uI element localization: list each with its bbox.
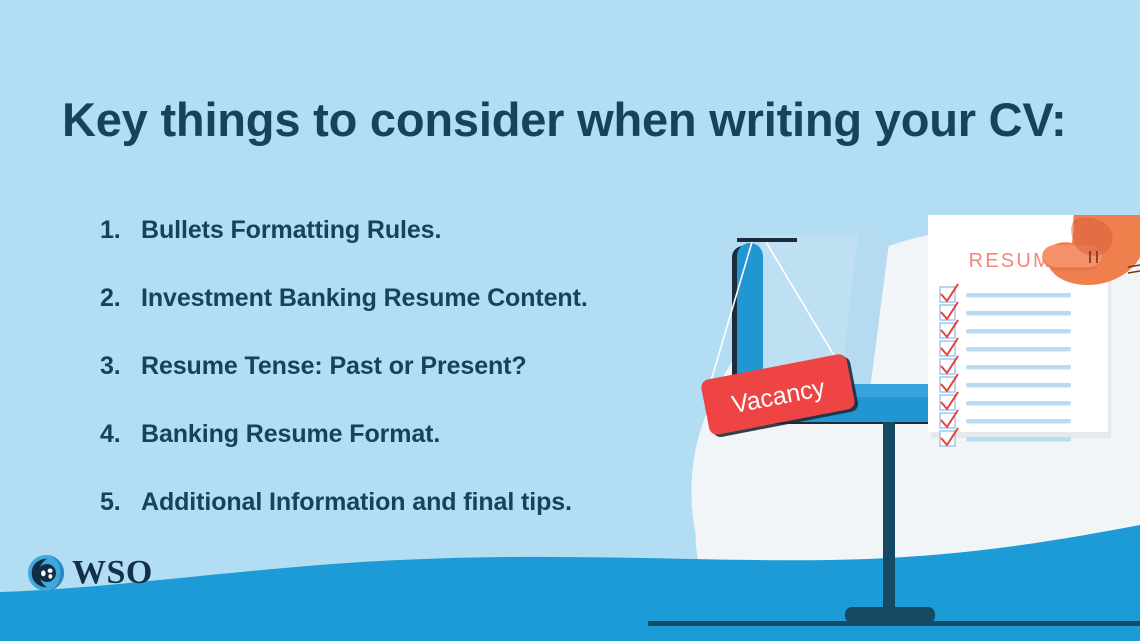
logo-wordmark: WSO	[72, 556, 153, 590]
resume-line	[966, 347, 1071, 352]
list-item-number: 1.	[100, 216, 141, 245]
list-item-label: Resume Tense: Past or Present?	[141, 352, 527, 381]
knuckle-line	[1128, 271, 1140, 273]
list-item-number: 5.	[100, 488, 141, 517]
list-item-label: Additional Information and final tips.	[141, 488, 572, 517]
resume-line	[966, 329, 1071, 334]
list-item-number: 2.	[100, 284, 141, 313]
chair-pedestal-stem	[883, 422, 895, 612]
office-chair-resume-illustration: Vacancy RESUME	[600, 215, 1140, 641]
resume-line	[966, 401, 1071, 406]
list-item-label: Banking Resume Format.	[141, 420, 440, 449]
resume-line	[966, 293, 1071, 298]
cv-tips-slide: Key things to consider when writing your…	[0, 0, 1140, 641]
globe-icon	[27, 554, 65, 592]
list-item-label: Investment Banking Resume Content.	[141, 284, 588, 313]
wso-logo: WSO	[27, 554, 153, 592]
list-item-label: Bullets Formatting Rules.	[141, 216, 441, 245]
resume-line	[966, 311, 1071, 316]
sign-hanger-bar	[737, 238, 797, 242]
page-title: Key things to consider when writing your…	[62, 93, 1072, 147]
chair-base-foot	[845, 607, 935, 623]
resume-line	[966, 365, 1071, 370]
list-item-number: 3.	[100, 352, 141, 381]
list-item-number: 4.	[100, 420, 141, 449]
resume-line	[966, 383, 1071, 388]
resume-line	[966, 437, 1071, 442]
resume-line	[966, 419, 1071, 424]
